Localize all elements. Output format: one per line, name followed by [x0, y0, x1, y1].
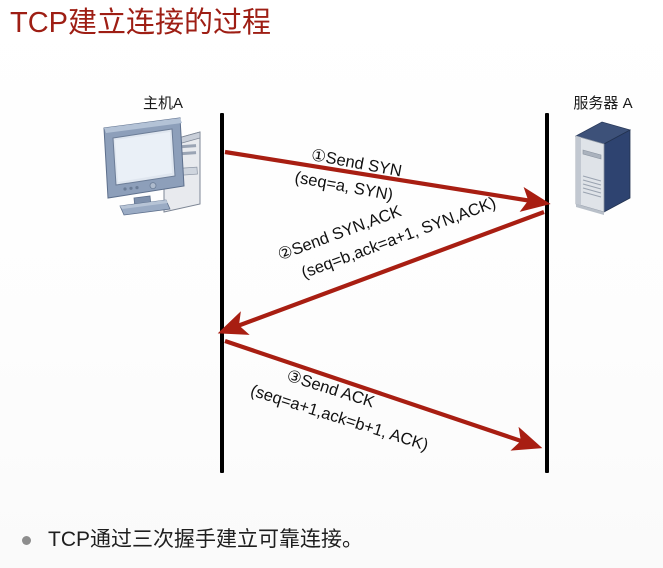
server-tower-icon — [572, 118, 634, 222]
message-label-1: ①Send SYN (seq=a, SYN) — [300, 142, 403, 209]
bullet-dot-icon — [22, 536, 31, 545]
server-lifeline — [545, 113, 549, 473]
bullet-list-item: TCP通过三次握手建立可靠连接。 — [22, 526, 363, 554]
slide-canvas: TCP建立连接的过程 主机A 服务器 A — [0, 0, 663, 568]
message-label-3: ③Send ACK (seq=a+1,ack=b+1, ACK) — [260, 359, 438, 458]
page-title: TCP建立连接的过程 — [10, 6, 271, 40]
desktop-computer-icon — [92, 112, 214, 216]
host-lifeline — [220, 113, 224, 473]
message-arrows — [0, 0, 663, 568]
bullet-text: TCP通过三次握手建立可靠连接。 — [48, 526, 363, 554]
server-node-label: 服务器 A — [548, 92, 658, 113]
host-node-label: 主机A — [108, 92, 218, 113]
